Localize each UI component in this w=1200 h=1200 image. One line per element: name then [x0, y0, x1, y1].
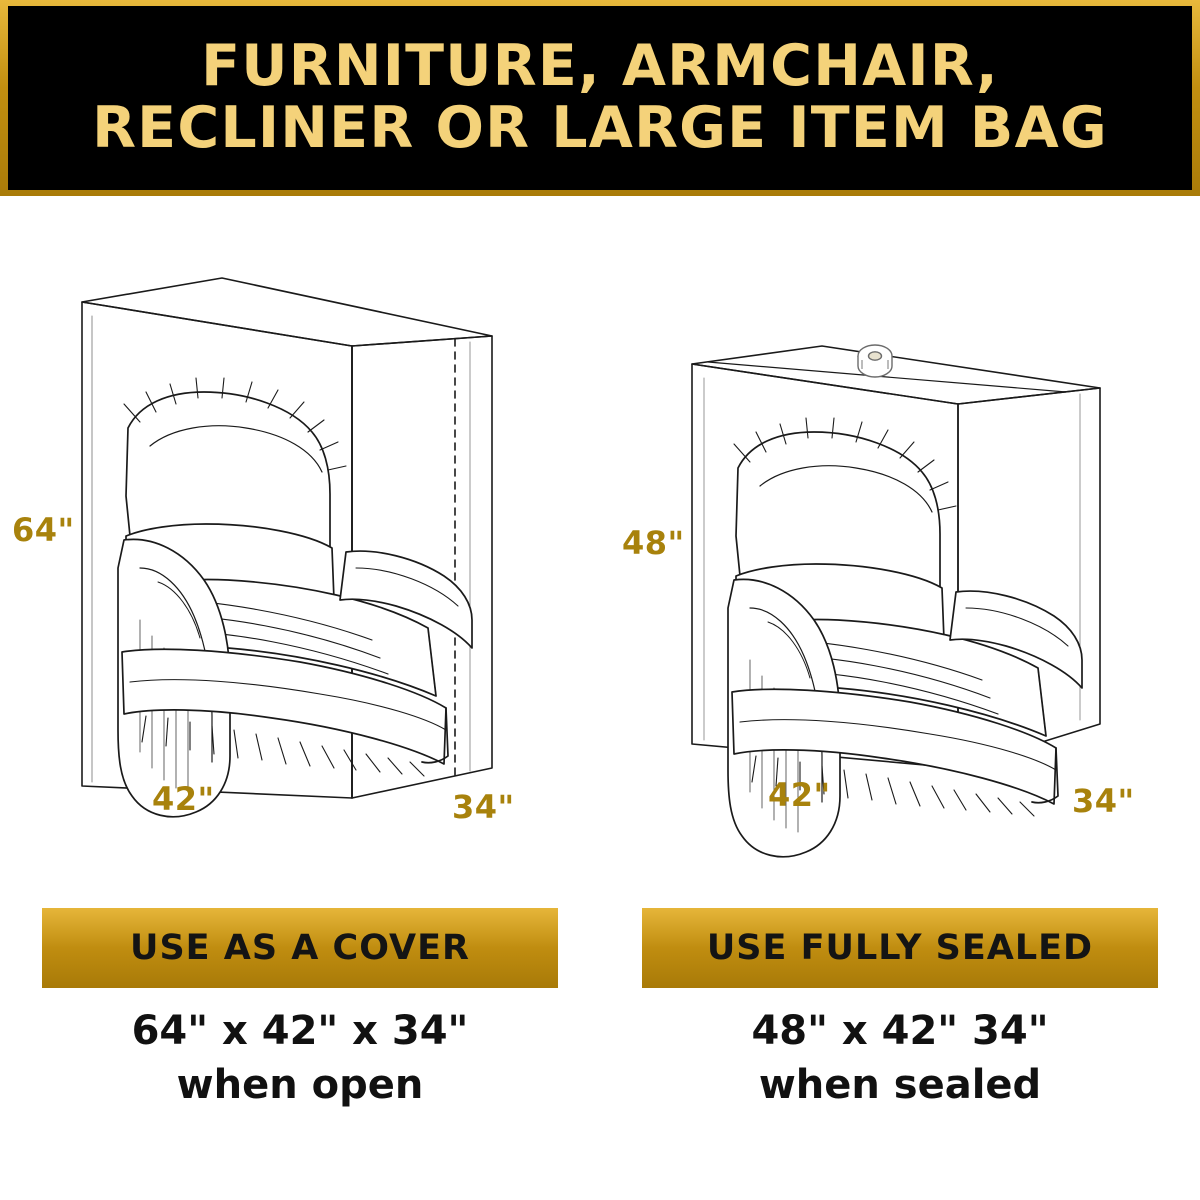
header-banner: FURNITURE, ARMCHAIR, RECLINER OR LARGE I… — [0, 0, 1200, 196]
sealed-dimensions: 48" x 42" 34" — [751, 1008, 1048, 1054]
left-width-label: 42" — [152, 780, 215, 818]
sealed-state: when sealed — [600, 1058, 1200, 1112]
diagram-area: 64" 42" 34" — [0, 196, 1200, 896]
cover-state: when open — [0, 1058, 600, 1112]
page-title-line-2: RECLINER OR LARGE ITEM BAG — [92, 98, 1108, 160]
cover-ribbon-label: USE AS A COVER — [130, 928, 470, 968]
left-depth-label: 34" — [452, 788, 515, 826]
tape-roll-icon — [858, 345, 892, 377]
cover-caption: 64" x 42" x 34" when open — [0, 1004, 600, 1112]
sealed-ribbon: USE FULLY SEALED — [642, 908, 1158, 988]
sealed-caption: 48" x 42" 34" when sealed — [600, 1004, 1200, 1112]
cover-ribbon: USE AS A COVER — [42, 908, 558, 988]
right-depth-label: 34" — [1072, 782, 1135, 820]
cover-dimensions: 64" x 42" x 34" — [132, 1008, 469, 1054]
callout-use-fully-sealed: USE FULLY SEALED 48" x 42" 34" when seal… — [600, 896, 1200, 1200]
diagram-sealed-bag: 48" 42" 34" — [600, 196, 1200, 896]
diagram-open-bag: 64" 42" 34" — [0, 196, 600, 896]
footer-callouts: USE AS A COVER 64" x 42" x 34" when open… — [0, 896, 1200, 1200]
page-title-line-1: FURNITURE, ARMCHAIR, — [92, 36, 1108, 98]
left-height-label: 64" — [12, 511, 75, 549]
sealed-ribbon-label: USE FULLY SEALED — [707, 928, 1093, 968]
right-height-label: 48" — [622, 524, 685, 562]
page-title: FURNITURE, ARMCHAIR, RECLINER OR LARGE I… — [78, 36, 1122, 159]
right-width-label: 42" — [768, 776, 831, 814]
header-inner: FURNITURE, ARMCHAIR, RECLINER OR LARGE I… — [8, 6, 1192, 190]
callout-use-as-cover: USE AS A COVER 64" x 42" x 34" when open — [0, 896, 600, 1200]
